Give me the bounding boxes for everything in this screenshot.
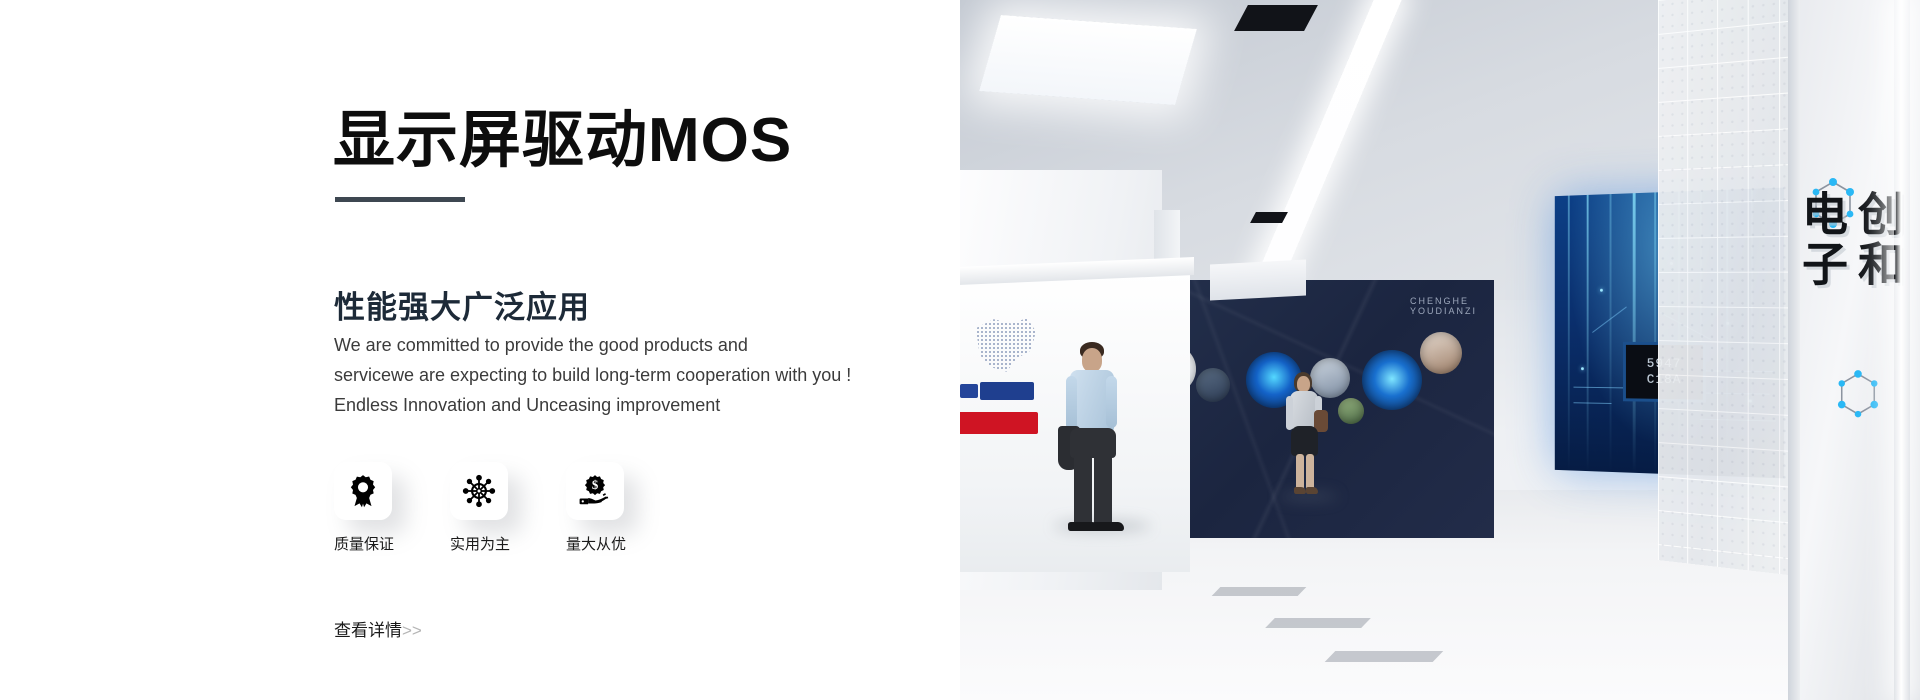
exhibit-chip-graphic bbox=[1362, 350, 1422, 410]
exhibit-photo-circle bbox=[1196, 368, 1230, 402]
page-title: 显示屏驱动MOS bbox=[333, 104, 792, 178]
floor-inlay-strip bbox=[1325, 651, 1444, 662]
exhibit-wall-caption: CHENGHE YOUDIANZI bbox=[1410, 296, 1496, 322]
person-man bbox=[1054, 342, 1134, 532]
floor-inlay-strip bbox=[1212, 587, 1307, 596]
network-hub-chip-icon bbox=[462, 474, 496, 508]
brand-sign-column-left: 电子 bbox=[1796, 190, 1848, 290]
exhibit-photo-circle bbox=[1338, 398, 1364, 424]
person-woman bbox=[1280, 372, 1334, 500]
feature-item-quality[interactable]: 质量保证 bbox=[334, 462, 392, 554]
floor-inlay-strip bbox=[1265, 618, 1371, 628]
ceiling-spot-light-icon bbox=[1234, 5, 1318, 31]
feature-label: 量大从优 bbox=[566, 536, 626, 554]
description-line-2: servicewe are expecting to build long-te… bbox=[334, 360, 894, 390]
title-divider bbox=[335, 197, 465, 202]
description-paragraph: We are committed to provide the good pro… bbox=[334, 330, 894, 420]
view-details-label: 查看详情 bbox=[334, 621, 402, 640]
description-line-1: We are committed to provide the good pro… bbox=[334, 330, 894, 360]
subtitle: 性能强大广泛应用 bbox=[334, 288, 590, 328]
red-plaque bbox=[958, 412, 1038, 434]
view-details-link[interactable]: 查看详情>> bbox=[334, 620, 422, 642]
feature-item-bulk-discount[interactable]: $ 量大从优 bbox=[566, 462, 624, 554]
exhibit-photo-circle bbox=[1420, 332, 1462, 374]
chevron-right-icon: >> bbox=[402, 621, 422, 640]
blue-plaque-small bbox=[960, 384, 978, 398]
award-medal-icon bbox=[346, 474, 380, 508]
blue-plaque bbox=[980, 382, 1034, 400]
ceiling-soffit bbox=[1210, 259, 1306, 300]
brand-sign-wall: 创和 电子 bbox=[1788, 0, 1920, 700]
description-line-3: Endless Innovation and Unceasing improve… bbox=[334, 390, 894, 420]
feature-label: 实用为主 bbox=[450, 536, 510, 554]
molecule-hexagon-icon bbox=[1836, 368, 1880, 420]
feature-icon-tile bbox=[334, 462, 392, 520]
ceiling-skylight-panel bbox=[979, 15, 1197, 105]
hand-holding-coin-icon: $ bbox=[578, 474, 612, 508]
ceiling-spot-light-icon bbox=[1250, 212, 1288, 223]
feature-icon-tile: $ bbox=[566, 462, 624, 520]
banner-text-panel: 显示屏驱动MOS 性能强大广泛应用 We are committed to pr… bbox=[0, 0, 960, 700]
hero-banner: CHENGHE YOUDIANZI bbox=[0, 0, 1920, 700]
svg-text:$: $ bbox=[592, 478, 599, 492]
brand-sign-text: 创和 电子 bbox=[1796, 190, 1904, 290]
feature-icon-tile bbox=[450, 462, 508, 520]
feature-list: 质量保证 bbox=[334, 462, 624, 554]
feature-label: 质量保证 bbox=[334, 536, 394, 554]
sign-wall-edge bbox=[1788, 0, 1800, 700]
vertical-light-tube bbox=[1894, 0, 1910, 700]
showroom-interior-photo: CHENGHE YOUDIANZI bbox=[958, 0, 1920, 700]
feature-item-practical[interactable]: 实用为主 bbox=[450, 462, 508, 554]
